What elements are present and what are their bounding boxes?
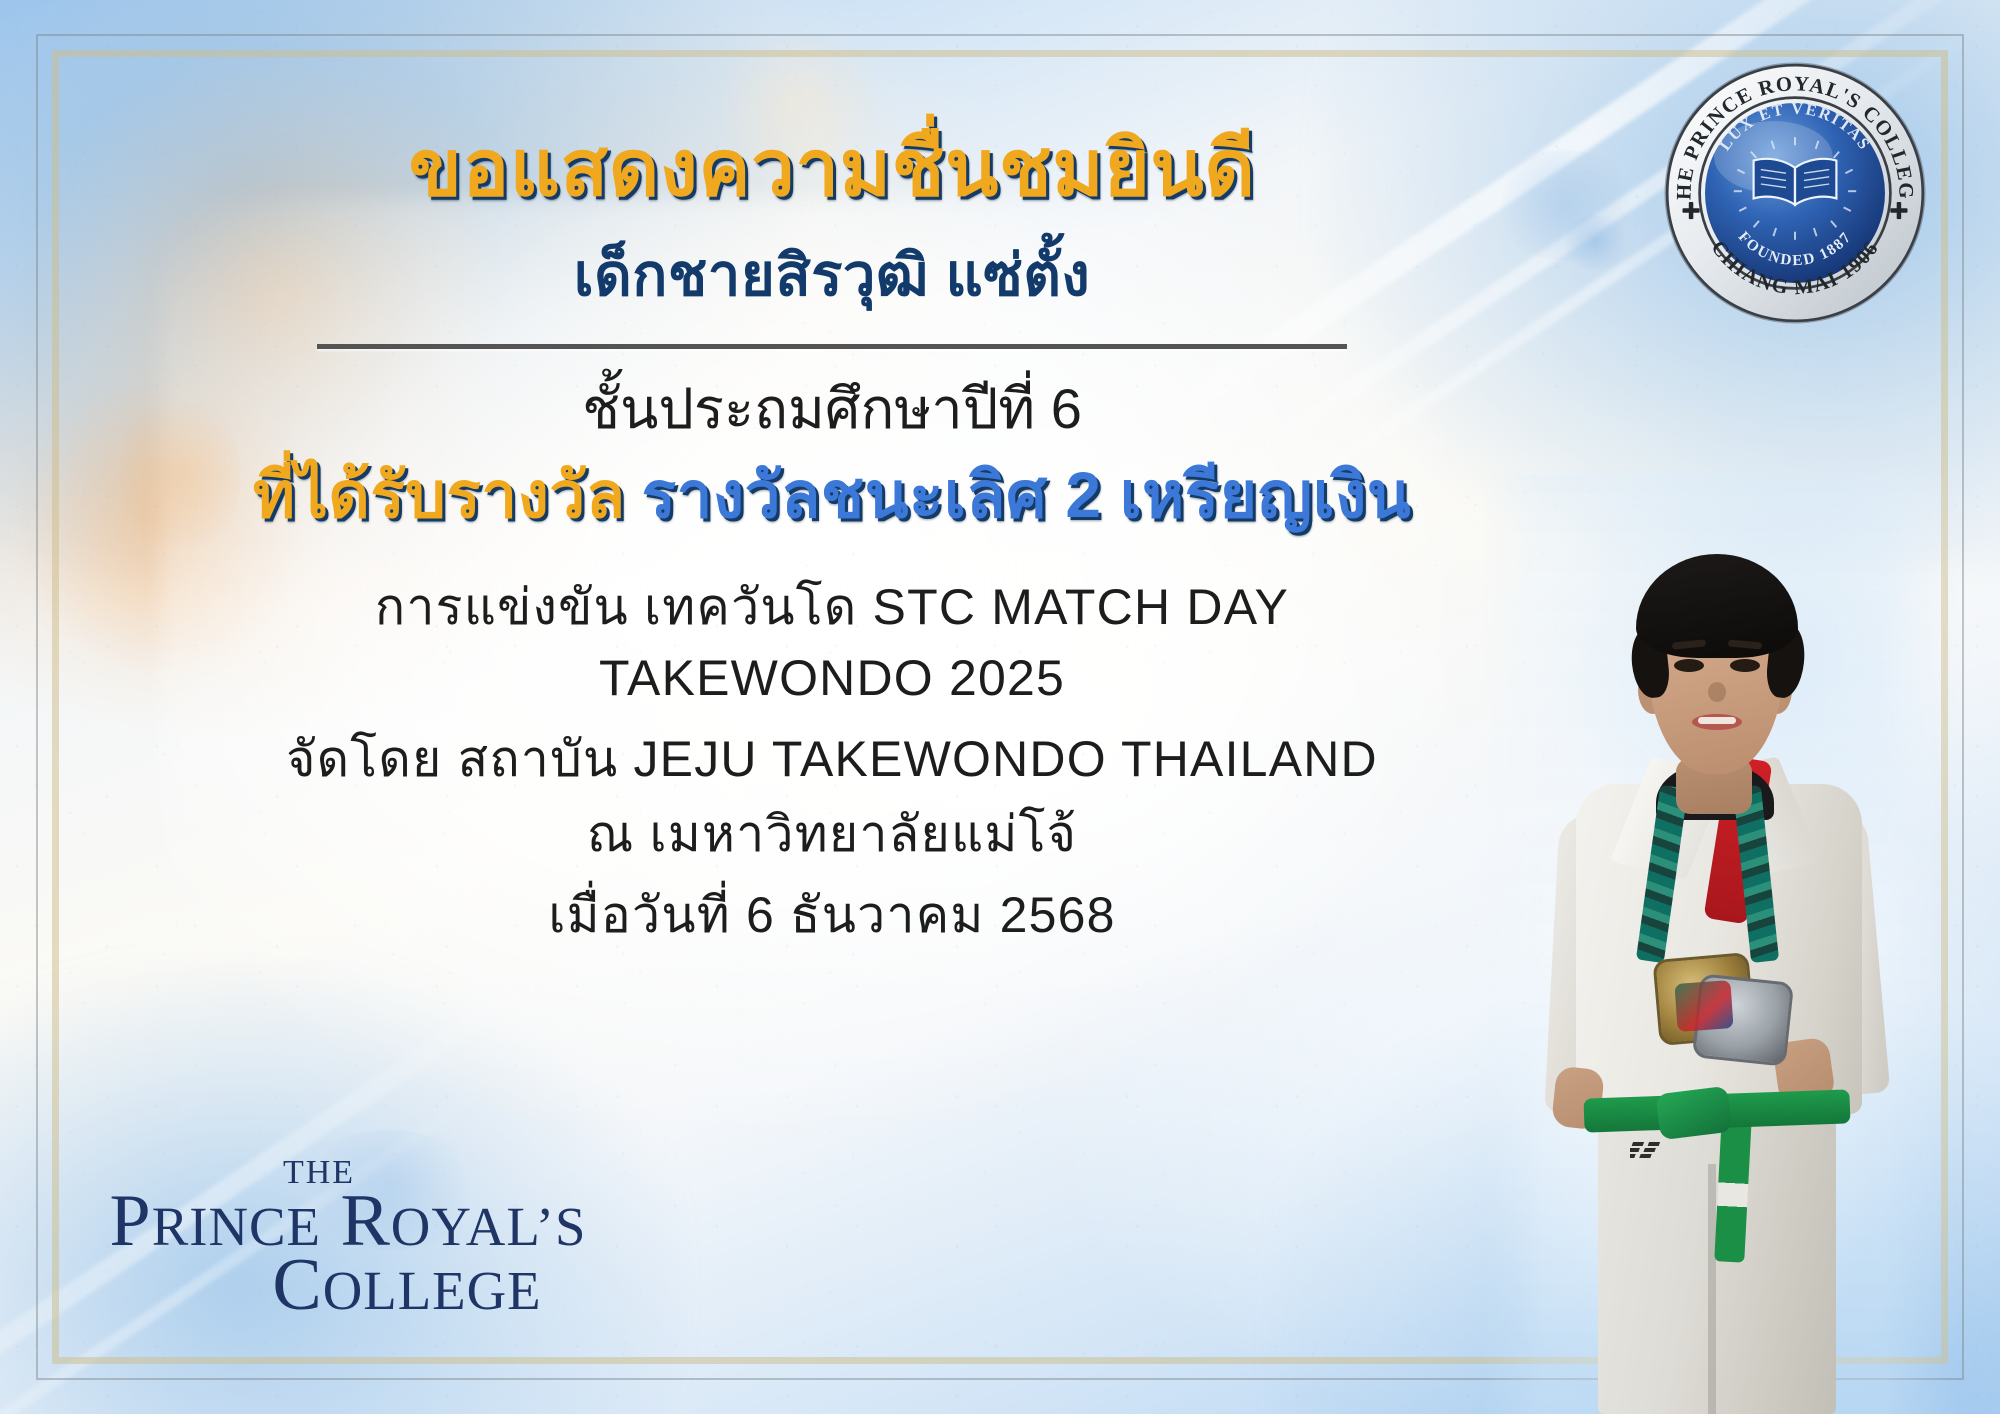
wordmark-p: P	[110, 1180, 152, 1262]
photo-belt-knot	[1655, 1086, 1732, 1140]
date-line: เมื่อวันที่ 6 ธันวาคม 2568	[52, 883, 1612, 948]
divider-rule	[317, 344, 1347, 349]
page-title: ขอแสดงความชื่นชมยินดี	[52, 128, 1612, 210]
award-prefix-label: ที่ได้รับรางวัล	[253, 459, 626, 531]
award-line: ที่ได้รับรางวัลรางวัลชนะเลิศ 2 เหรียญเงิ…	[52, 459, 1612, 533]
award-value-label: รางวัลชนะเลิศ 2 เหรียญเงิน	[642, 459, 1412, 531]
wordmark-ollege: OLLEGE	[323, 1260, 542, 1321]
photo-eye-left	[1674, 659, 1704, 672]
photo-teeth	[1698, 717, 1736, 724]
wordmark-line-prince-royals: PRINCE ROYAL’S	[88, 1184, 608, 1258]
poster-content: ขอแสดงความชื่นชมยินดี เด็กชายสิรวุฒิ แซ่…	[52, 50, 1612, 948]
wordmark-c: C	[272, 1244, 322, 1326]
student-grade: ชั้นประถมศึกษาปีที่ 6	[52, 377, 1612, 441]
photo-pants-seam	[1708, 1164, 1716, 1414]
photo-medal-emblem	[1674, 980, 1733, 1032]
school-wordmark: THE PRINCE ROYAL’S COLLEGE	[88, 1156, 608, 1322]
school-seal: THE PRINCE ROYAL'S COLLEGE CHIANG MAI 19…	[1660, 58, 1930, 328]
wordmark-apostrophe-s: ’S	[536, 1196, 587, 1257]
congratulations-poster: THE PRINCE ROYAL'S COLLEGE CHIANG MAI 19…	[0, 0, 2000, 1414]
photo-nose	[1708, 682, 1726, 702]
student-name: เด็กชายสิรวุฒิ แซ่ตั้ง	[52, 244, 1612, 308]
photo-eye-right	[1730, 659, 1760, 672]
organizer-line: จัดโดย สถาบัน JEJU TAKEWONDO THAILAND	[52, 727, 1612, 792]
venue-line: ณ เมหาวิทยาลัยแม่โจ้	[52, 802, 1612, 867]
competition-name-line-1: การแข่งขัน เทควันโด STC MATCH DAY	[52, 575, 1612, 640]
competition-name-line-2: TAKEWONDO 2025	[52, 646, 1612, 711]
wordmark-line-college: COLLEGE	[206, 1248, 608, 1322]
